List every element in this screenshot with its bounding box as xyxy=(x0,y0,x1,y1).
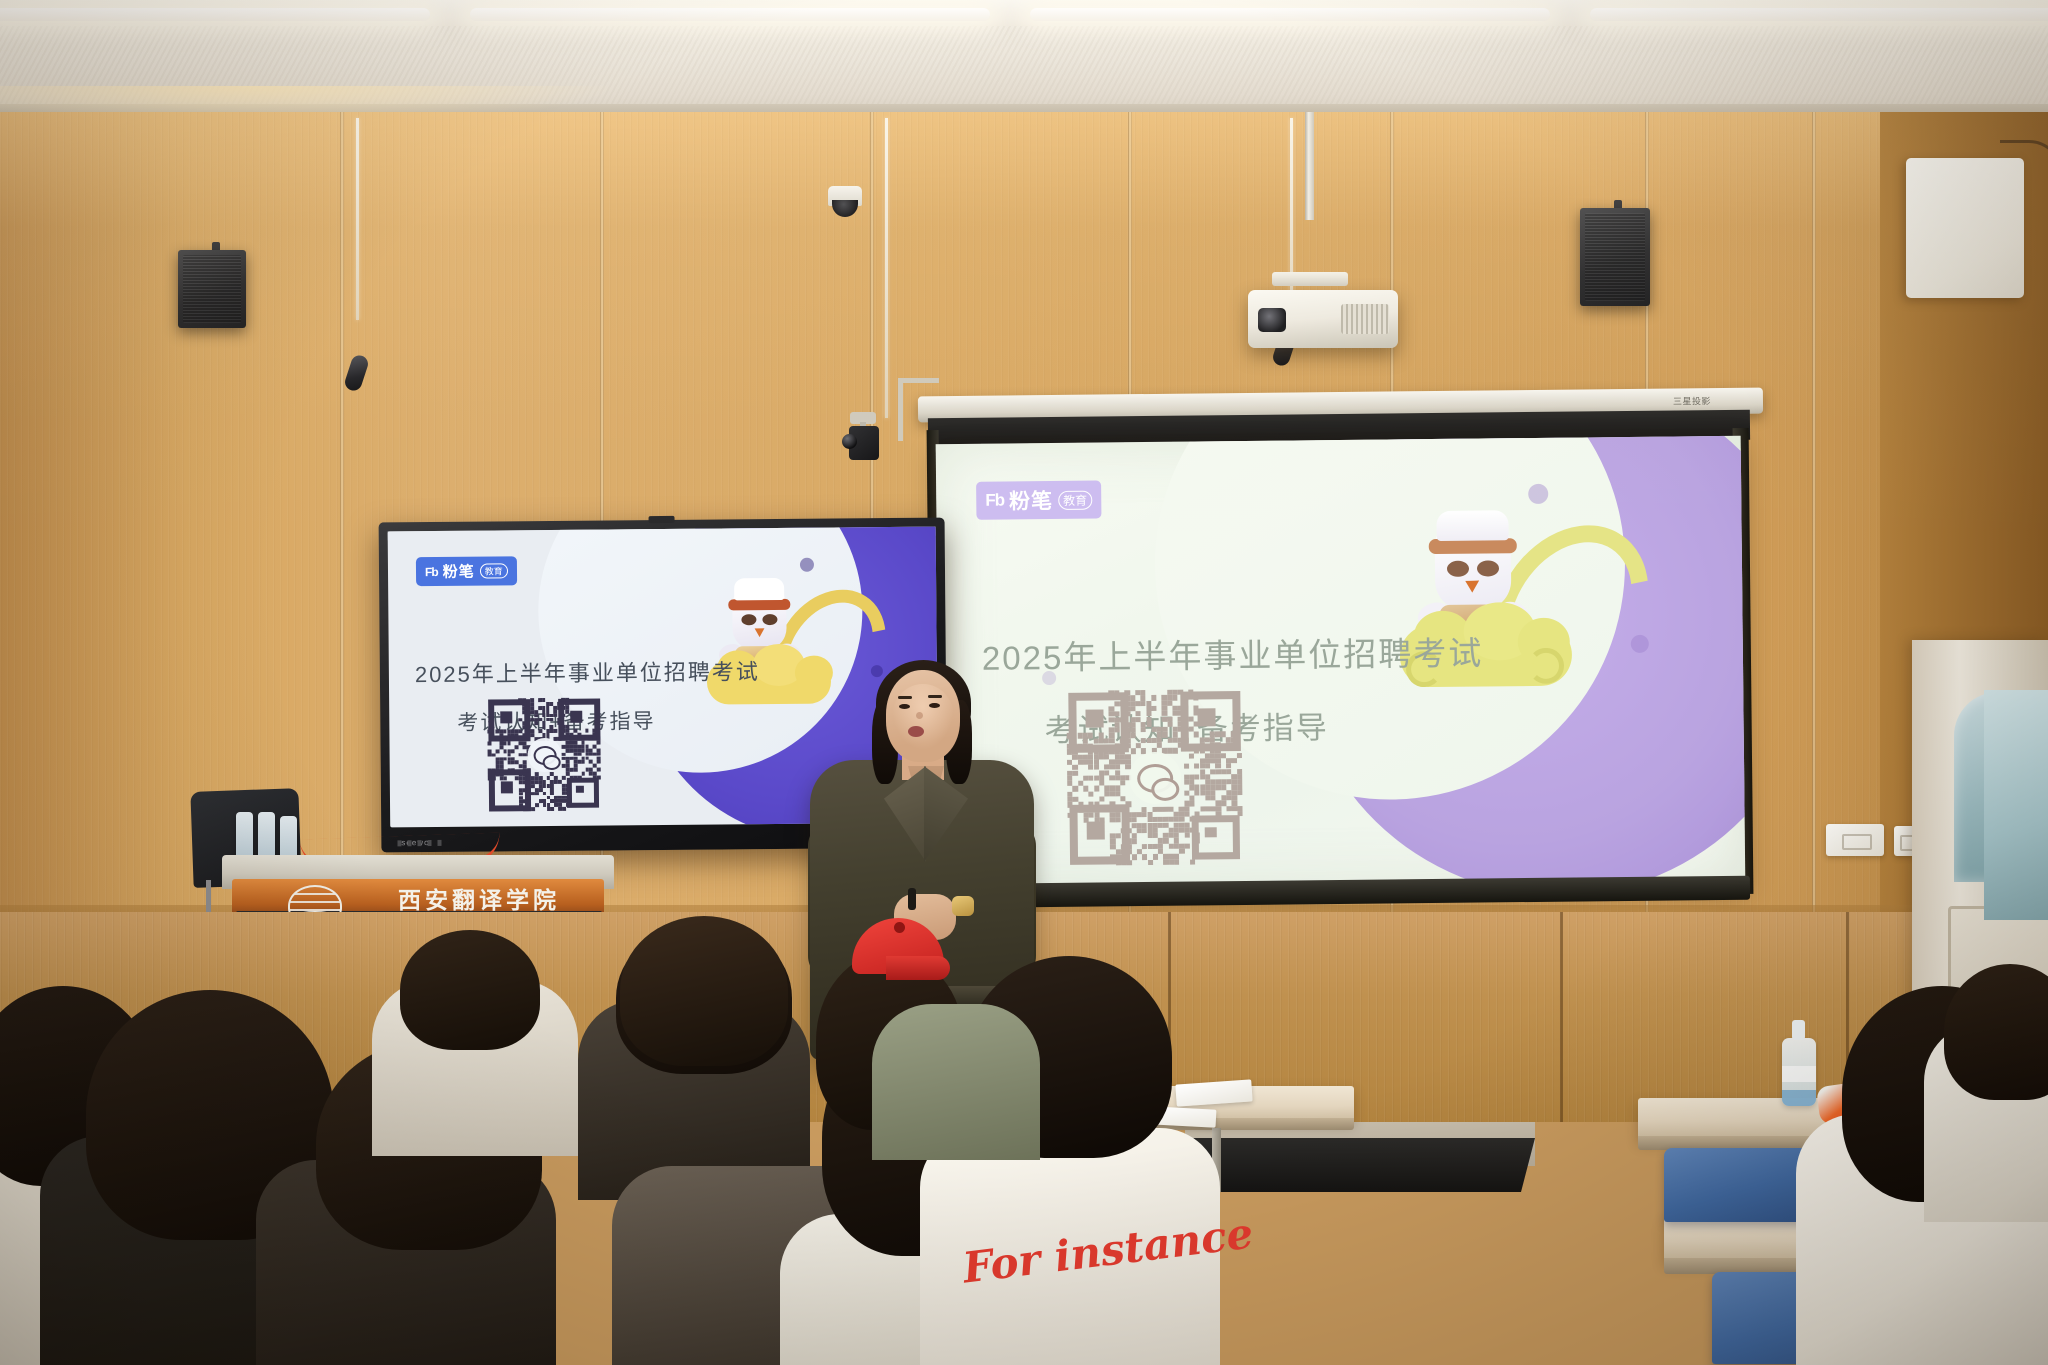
sanitizer-label xyxy=(1782,1066,1816,1082)
student-hair xyxy=(400,930,540,1050)
ceiling-projector xyxy=(1248,290,1398,348)
projection-screen-surface: Fb 粉笔 教育 2025年上半年事业单位招聘考试 考试认知+备考指导 xyxy=(936,436,1746,892)
stage-riser xyxy=(1185,1138,1535,1192)
projector-mount-plate xyxy=(1272,272,1348,286)
student-hair xyxy=(620,916,788,1066)
ap-cable xyxy=(2000,140,2048,189)
mic-wire-left-2 xyxy=(885,118,888,418)
fenbi-logo: Fb 粉笔 教育 xyxy=(416,556,517,586)
projector-pole xyxy=(1305,112,1314,220)
student-chair[interactable] xyxy=(1664,1148,1814,1222)
fenbi-name-cn: 粉笔 xyxy=(1009,485,1053,515)
fenbi-logo: Fb 粉笔 教育 xyxy=(976,480,1101,519)
qr-code[interactable] xyxy=(487,698,602,813)
presenter-mouth xyxy=(908,726,924,737)
sanitizer-pump xyxy=(1792,1020,1805,1040)
wall-seam xyxy=(1812,112,1816,932)
ceiling-light-2 xyxy=(470,8,990,21)
ceiling-light-4 xyxy=(1590,8,2048,21)
power-outlet-icon[interactable] xyxy=(1826,824,1884,856)
fenbi-name-cn: 粉笔 xyxy=(443,561,475,582)
ir-sensor-icon xyxy=(649,516,675,523)
presenter-face-highlight xyxy=(892,684,954,750)
lower-wall-seam xyxy=(1560,912,1563,1122)
ceiling-light-1 xyxy=(0,8,430,21)
university-name-cn: 西安翻译学院 xyxy=(398,881,560,915)
cap-button xyxy=(894,922,905,933)
ceiling-light-3 xyxy=(1030,8,1550,21)
wall-seam xyxy=(340,112,344,932)
qr-code[interactable] xyxy=(1066,689,1244,867)
far-window xyxy=(1984,690,2048,920)
presenter-brow-right xyxy=(928,695,942,698)
mic-wire-left xyxy=(356,118,359,320)
wall-speaker-right xyxy=(1580,208,1650,306)
presenter-eye-left xyxy=(899,704,910,709)
cap-brim xyxy=(886,956,950,980)
dome-camera-icon xyxy=(828,186,862,206)
fenbi-badge: 教育 xyxy=(480,563,508,578)
wall-speaker-left xyxy=(178,250,246,328)
hand-sanitizer-bottle[interactable] xyxy=(1782,1038,1816,1106)
presenter-brow-left xyxy=(898,696,912,699)
screen-case-label: 三星投影 xyxy=(1673,394,1711,407)
projector-lens-icon xyxy=(1258,308,1286,332)
sanitizer-liquid xyxy=(1782,1090,1816,1106)
owl-mascot-icon xyxy=(692,569,855,712)
presenter-wristwatch xyxy=(952,896,974,916)
fenbi-badge: 教育 xyxy=(1058,490,1092,509)
presenter-pen xyxy=(908,888,916,910)
presenter-nose xyxy=(916,712,923,719)
presenter-eye-right xyxy=(929,703,940,708)
ptz-lens-icon xyxy=(842,434,857,449)
slide-title: 2025年上半年事业单位招聘考试 xyxy=(415,654,760,689)
wechat-icon xyxy=(1129,752,1182,805)
ptz-camera-icon xyxy=(849,426,879,460)
slide-title: 2025年上半年事业单位招聘考试 xyxy=(982,627,1484,680)
fenbi-mark: Fb xyxy=(425,564,438,578)
fenbi-mark: Fb xyxy=(985,491,1004,511)
student-shoulders xyxy=(872,1004,1040,1160)
wechat-icon xyxy=(527,738,561,772)
classroom-photo: 三星投影 xyxy=(0,0,2048,1365)
slide-projected: Fb 粉笔 教育 2025年上半年事业单位招聘考试 考试认知+备考指导 xyxy=(936,436,1746,892)
projector-vent xyxy=(1341,304,1389,334)
